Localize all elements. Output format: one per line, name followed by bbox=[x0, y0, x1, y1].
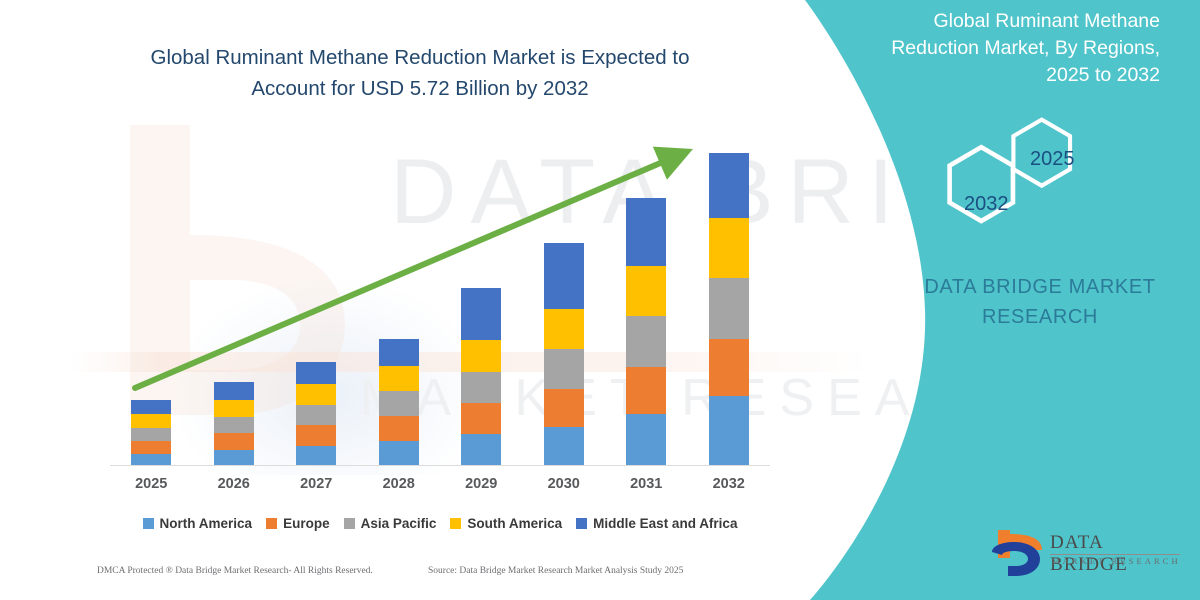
panel-brand-line-1: DATA BRIDGE MARKET bbox=[900, 272, 1180, 302]
footer: DMCA Protected ® Data Bridge Market Rese… bbox=[0, 566, 800, 590]
panel-title: Global Ruminant Methane Reduction Market… bbox=[860, 8, 1160, 89]
legend-item-europe[interactable]: Europe bbox=[266, 516, 330, 531]
legend-label: North America bbox=[160, 516, 253, 531]
chart-legend: North AmericaEuropeAsia PacificSouth Ame… bbox=[110, 512, 770, 534]
legend-swatch-icon bbox=[576, 518, 587, 529]
logo-tagline: MARKET RESEARCH bbox=[1052, 556, 1181, 566]
x-axis-label-2029: 2029 bbox=[446, 476, 516, 492]
legend-swatch-icon bbox=[143, 518, 154, 529]
panel-brand-name: DATA BRIDGE MARKET RESEARCH bbox=[900, 272, 1180, 332]
x-axis-label-2031: 2031 bbox=[611, 476, 681, 492]
x-axis-label-2026: 2026 bbox=[199, 476, 269, 492]
x-axis-label-2027: 2027 bbox=[281, 476, 351, 492]
legend-item-middle-east-and-africa[interactable]: Middle East and Africa bbox=[576, 516, 737, 531]
chart-x-axis-labels: 20252026202720282029203020312032 bbox=[110, 476, 770, 498]
x-axis-label-2025: 2025 bbox=[116, 476, 186, 492]
legend-swatch-icon bbox=[450, 518, 461, 529]
infographic-canvas: DATA BRIDGE MARKET RESEARCH Global Rumin… bbox=[0, 0, 1200, 600]
legend-label: Middle East and Africa bbox=[593, 516, 737, 531]
x-axis-label-2028: 2028 bbox=[364, 476, 434, 492]
footer-copyright: DMCA Protected ® Data Bridge Market Rese… bbox=[97, 566, 373, 576]
legend-swatch-icon bbox=[266, 518, 277, 529]
data-bridge-mark-icon bbox=[990, 528, 1046, 578]
logo-divider bbox=[1050, 554, 1180, 555]
x-axis-label-2032: 2032 bbox=[694, 476, 764, 492]
legend-swatch-icon bbox=[344, 518, 355, 529]
data-bridge-logo: DATA BRIDGE MARKET RESEARCH bbox=[990, 528, 1185, 580]
hexagon-2025-label: 2025 bbox=[1030, 148, 1075, 171]
growth-arrow-annotation bbox=[110, 140, 770, 470]
panel-brand-line-2: RESEARCH bbox=[900, 302, 1180, 332]
legend-label: South America bbox=[467, 516, 562, 531]
legend-item-north-america[interactable]: North America bbox=[143, 516, 253, 531]
legend-label: Europe bbox=[283, 516, 330, 531]
legend-item-south-america[interactable]: South America bbox=[450, 516, 562, 531]
footer-source: Source: Data Bridge Market Research Mark… bbox=[428, 566, 683, 576]
page-title: Global Ruminant Methane Reduction Market… bbox=[120, 42, 720, 104]
hexagon-2032-label: 2032 bbox=[964, 193, 1009, 216]
hexagon-badges: 2032 2025 bbox=[920, 112, 1110, 230]
legend-label: Asia Pacific bbox=[361, 516, 437, 531]
x-axis-label-2030: 2030 bbox=[529, 476, 599, 492]
legend-item-asia-pacific[interactable]: Asia Pacific bbox=[344, 516, 437, 531]
